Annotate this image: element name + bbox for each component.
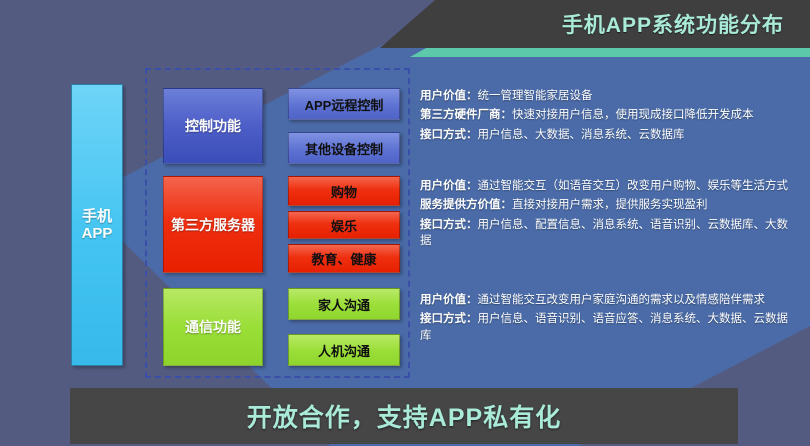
sub-label-human-machine-communication: 人机沟通	[318, 341, 370, 360]
sub-label-entertainment: 娱乐	[331, 216, 357, 235]
phone-app-label-line2: APP	[82, 225, 113, 242]
info-block-control: 用户价值：统一管理智能家居设备 第三方硬件厂商：快速对接用户信息，使用现成接口降…	[420, 88, 792, 146]
sub-box-family-communication: 家人沟通	[288, 288, 400, 320]
slide-canvas: 手机APP系统功能分布 手机 APP 控制功能 第三方服务器 通信功能 APP远…	[0, 0, 810, 446]
info-label: 服务提供方价值：	[420, 199, 512, 211]
phone-app-label: 手机 APP	[82, 208, 113, 243]
info-label: 接口方式：	[420, 219, 478, 231]
info-line: 接口方式：用户信息、大数据、消息系统、云数据库	[420, 127, 792, 143]
sub-label-shopping: 购物	[331, 182, 357, 201]
sub-label-app-remote-control: APP远程控制	[305, 95, 384, 114]
info-label: 接口方式：	[420, 129, 478, 141]
phone-app-label-line1: 手机	[82, 208, 113, 225]
sub-label-family-communication: 家人沟通	[318, 295, 370, 314]
info-text: 用户信息、大数据、消息系统、云数据库	[478, 129, 685, 141]
info-block-third-party-server: 用户价值：通过智能交互（如语音交互）改变用户购物、娱乐等生活方式 服务提供方价值…	[420, 178, 792, 252]
info-label: 用户价值：	[420, 180, 478, 192]
info-line: 用户价值：统一管理智能家居设备	[420, 88, 792, 104]
info-line: 用户价值：通过智能交互（如语音交互）改变用户购物、娱乐等生活方式	[420, 178, 792, 194]
info-text: 通过智能交互改变用户家庭沟通的需求以及情感陪伴需求	[478, 294, 766, 306]
title-accent-bar	[410, 48, 810, 57]
info-text: 直接对接用户需求，提供服务实现盈利	[512, 199, 708, 211]
info-line: 用户价值：通过智能交互改变用户家庭沟通的需求以及情感陪伴需求	[420, 292, 792, 308]
sub-label-education-health: 教育、健康	[311, 249, 376, 268]
info-line: 第三方硬件厂商：快速对接用户信息，使用现成接口降低开发成本	[420, 107, 792, 123]
sub-box-other-device-control: 其他设备控制	[288, 132, 400, 164]
sub-box-education-health: 教育、健康	[288, 244, 400, 273]
category-box-control: 控制功能	[163, 88, 263, 164]
info-block-communication: 用户价值：通过智能交互改变用户家庭沟通的需求以及情感陪伴需求 接口方式：用户信息…	[420, 292, 792, 347]
info-label: 用户价值：	[420, 294, 478, 306]
category-box-third-party-server: 第三方服务器	[163, 176, 263, 273]
info-label: 用户价值：	[420, 90, 478, 102]
sub-box-entertainment: 娱乐	[288, 211, 400, 239]
footer-banner: 开放合作，支持APP私有化	[70, 388, 738, 444]
title-band: 手机APP系统功能分布	[380, 0, 810, 48]
sub-box-app-remote-control: APP远程控制	[288, 88, 400, 120]
sub-box-shopping: 购物	[288, 176, 400, 206]
category-label-communication: 通信功能	[185, 317, 241, 337]
category-label-third-party-server: 第三方服务器	[171, 215, 255, 235]
phone-app-column: 手机 APP	[71, 84, 123, 366]
sub-label-other-device-control: 其他设备控制	[305, 139, 383, 158]
sub-box-human-machine-communication: 人机沟通	[288, 334, 400, 366]
info-label: 第三方硬件厂商：	[420, 109, 512, 121]
info-text: 快速对接用户信息，使用现成接口降低开发成本	[512, 109, 754, 121]
info-line: 接口方式：用户信息、配置信息、消息系统、语音识别、云数据库、大数据	[420, 217, 792, 250]
info-line: 服务提供方价值：直接对接用户需求，提供服务实现盈利	[420, 197, 792, 213]
info-text: 统一管理智能家居设备	[478, 90, 593, 102]
info-label: 接口方式：	[420, 313, 478, 325]
footer-text: 开放合作，支持APP私有化	[247, 398, 561, 434]
info-line: 接口方式：用户信息、语音识别、语音应答、消息系统、大数据、云数据库	[420, 311, 792, 344]
info-text: 通过智能交互（如语音交互）改变用户购物、娱乐等生活方式	[478, 180, 789, 192]
page-title: 手机APP系统功能分布	[562, 9, 784, 39]
category-box-communication: 通信功能	[163, 288, 263, 366]
category-label-control: 控制功能	[185, 116, 241, 136]
